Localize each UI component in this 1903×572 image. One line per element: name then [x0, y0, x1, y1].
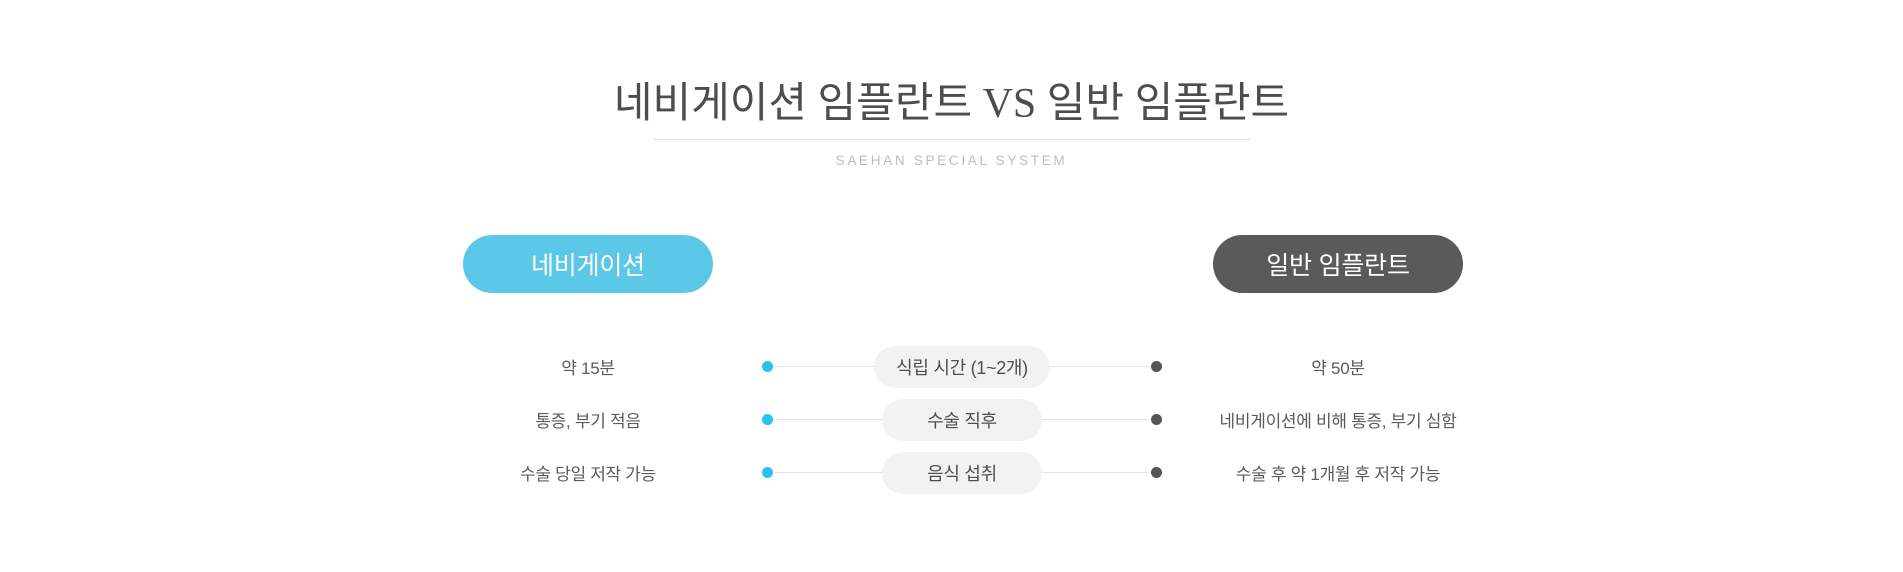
- row-connector: 식립 시간 (1~2개): [762, 346, 1162, 388]
- bullet-dot-icon-right: [1151, 414, 1162, 425]
- row-left-value: 통증, 부기 적음: [438, 407, 738, 432]
- column-header-navigation-label: 네비게이션: [531, 246, 645, 282]
- connector-line-left: [775, 366, 874, 367]
- connector-line-left: [775, 472, 882, 473]
- connector-line-right: [1042, 419, 1149, 420]
- comparison-row: 통증, 부기 적음 수술 직후 네비게이션에 비해 통증, 부기 심함: [0, 393, 1903, 446]
- comparison-rows: 약 15분 식립 시간 (1~2개) 약 50분 통증, 부기 적음 수술 직후…: [0, 340, 1903, 499]
- page-subtitle: SAEHAN SPECIAL SYSTEM: [0, 152, 1903, 170]
- page-title: 네비게이션 임플란트 VS 일반 임플란트: [0, 78, 1903, 130]
- bullet-dot-icon-right: [1151, 361, 1162, 372]
- comparison-infographic: 네비게이션 임플란트 VS 일반 임플란트 SAEHAN SPECIAL SYS…: [0, 0, 1903, 572]
- connector-line-right: [1050, 366, 1149, 367]
- bullet-dot-icon-left: [762, 467, 773, 478]
- row-left-value: 약 15분: [438, 354, 738, 379]
- bullet-dot-icon-left: [762, 361, 773, 372]
- column-header-navigation: 네비게이션: [463, 235, 713, 293]
- row-criterion-pill: 식립 시간 (1~2개): [874, 346, 1050, 388]
- connector-line-left: [775, 419, 882, 420]
- comparison-row: 약 15분 식립 시간 (1~2개) 약 50분: [0, 340, 1903, 393]
- column-header-normal-implant: 일반 임플란트: [1213, 235, 1463, 293]
- row-right-value: 수술 후 약 1개월 후 저작 가능: [1188, 460, 1488, 485]
- row-connector: 수술 직후: [762, 399, 1162, 441]
- row-criterion-pill: 수술 직후: [882, 399, 1042, 441]
- bullet-dot-icon-right: [1151, 467, 1162, 478]
- row-right-value: 약 50분: [1188, 354, 1488, 379]
- title-divider: [653, 139, 1251, 140]
- header: 네비게이션 임플란트 VS 일반 임플란트 SAEHAN SPECIAL SYS…: [0, 0, 1903, 170]
- bullet-dot-icon-left: [762, 414, 773, 425]
- row-criterion-pill: 음식 섭취: [882, 452, 1042, 494]
- row-left-value: 수술 당일 저작 가능: [438, 460, 738, 485]
- comparison-row: 수술 당일 저작 가능 음식 섭취 수술 후 약 1개월 후 저작 가능: [0, 446, 1903, 499]
- row-right-value: 네비게이션에 비해 통증, 부기 심함: [1188, 407, 1488, 432]
- row-connector: 음식 섭취: [762, 452, 1162, 494]
- column-header-normal-implant-label: 일반 임플란트: [1266, 246, 1410, 282]
- connector-line-right: [1042, 472, 1149, 473]
